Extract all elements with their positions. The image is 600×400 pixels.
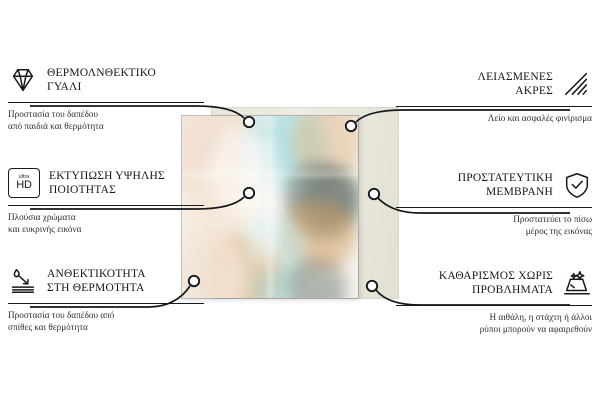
infographic-canvas: ΘΕΡΜΟΛΝΘΕΚΤΙΚΟ ΓΥΑΛΙ Προστασία του δαπέδ…	[0, 0, 600, 400]
feature-header: ΠΡΟΣΤΑΤΕΥΤΙΚΗ ΜΕΜΒΡΑΝΗ	[396, 168, 592, 202]
feature-header: ΘΕΡΜΟΛΝΘΕΚΤΙΚΟ ΓΥΑΛΙ	[8, 63, 204, 97]
divider	[396, 207, 592, 208]
divider	[396, 305, 592, 306]
feature-header: ΛΕΙΑΣΜΕΝΕΣ ΑΚΡΕΣ	[396, 67, 592, 101]
divider	[396, 106, 592, 107]
feature-description: Η αιθάλη, η στάχτη ή άλλοι ρύποι μπορούν…	[396, 311, 592, 336]
divider	[8, 303, 204, 304]
divider	[8, 102, 204, 103]
feature-title: ΕΚΤΥΠΩΣΗ ΥΨΗΛΗΣ ΠΟΙΟΤΗΤΑΣ	[49, 169, 165, 197]
feature-easy-cleaning: ΚΑΘΑΡΙΣΜΟΣ ΧΩΡΙΣ ΠΡΟΒΛΗΜΑΤΑ Η αιθάλη, η …	[396, 266, 592, 336]
flame-heat-resistance-icon	[8, 266, 38, 296]
feature-description: Πλούσια χρώματα και ευκρινής εικόνα	[8, 211, 204, 236]
feature-title: ΚΑΘΑΡΙΣΜΟΣ ΧΩΡΙΣ ΠΡΟΒΛΗΜΑΤΑ	[439, 269, 553, 297]
ultra-hd-icon: ultra HD	[8, 168, 40, 198]
feature-polished-edges: ΛΕΙΑΣΜΕΝΕΣ ΑΚΡΕΣ Λείο και ασφαλές φινίρι…	[396, 67, 592, 124]
feature-header: ultra HD ΕΚΤΥΠΩΣΗ ΥΨΗΛΗΣ ΠΟΙΟΤΗΤΑΣ	[8, 166, 204, 200]
feature-title: ΛΕΙΑΣΜΕΝΕΣ ΑΚΡΕΣ	[478, 70, 553, 98]
feature-high-quality-print: ultra HD ΕΚΤΥΠΩΣΗ ΥΨΗΛΗΣ ΠΟΙΟΤΗΤΑΣ Πλούσ…	[8, 166, 204, 236]
feature-description: Προστατεύει το πίσω μέρος της εικόνας	[396, 213, 592, 238]
feature-title: ΠΡΟΣΤΑΤΕΥΤΙΚΗ ΜΕΜΒΡΑΝΗ	[458, 171, 553, 199]
feature-description: Λείο και ασφαλές φινίρισμα	[396, 112, 592, 124]
feature-title: ΘΕΡΜΟΛΝΘΕΚΤΙΚΟ ΓΥΑΛΙ	[47, 66, 156, 94]
feature-protective-membrane: ΠΡΟΣΤΑΤΕΥΤΙΚΗ ΜΕΜΒΡΑΝΗ Προστατεύει το πί…	[396, 168, 592, 238]
diamond-icon	[8, 65, 38, 95]
feature-title: ΑΝΘΕΚΤΙΚΟΤΗΤΑ ΣΤΗ ΘΕΡΜΟΤΗΤΑ	[47, 267, 146, 295]
feature-description: Προστασία του δαπέδου από παιδιά και θερ…	[8, 108, 204, 133]
shield-check-icon	[562, 170, 592, 200]
polished-edges-icon	[562, 69, 592, 99]
feature-header: ΚΑΘΑΡΙΣΜΟΣ ΧΩΡΙΣ ΠΡΟΒΛΗΜΑΤΑ	[396, 266, 592, 300]
feature-header: ΑΝΘΕΚΤΙΚΟΤΗΤΑ ΣΤΗ ΘΕΡΜΟΤΗΤΑ	[8, 264, 204, 298]
feature-heat-resistance: ΑΝΘΕΚΤΙΚΟΤΗΤΑ ΣΤΗ ΘΕΡΜΟΤΗΤΑ Προστασία το…	[8, 264, 204, 334]
feature-description: Προστασία του δαπέδου από σπίθες και θερ…	[8, 309, 204, 334]
sponge-sparkle-icon	[562, 268, 592, 298]
feature-thermal-glass: ΘΕΡΜΟΛΝΘΕΚΤΙΚΟ ΓΥΑΛΙ Προστασία του δαπέδ…	[8, 63, 204, 133]
divider	[8, 205, 204, 206]
